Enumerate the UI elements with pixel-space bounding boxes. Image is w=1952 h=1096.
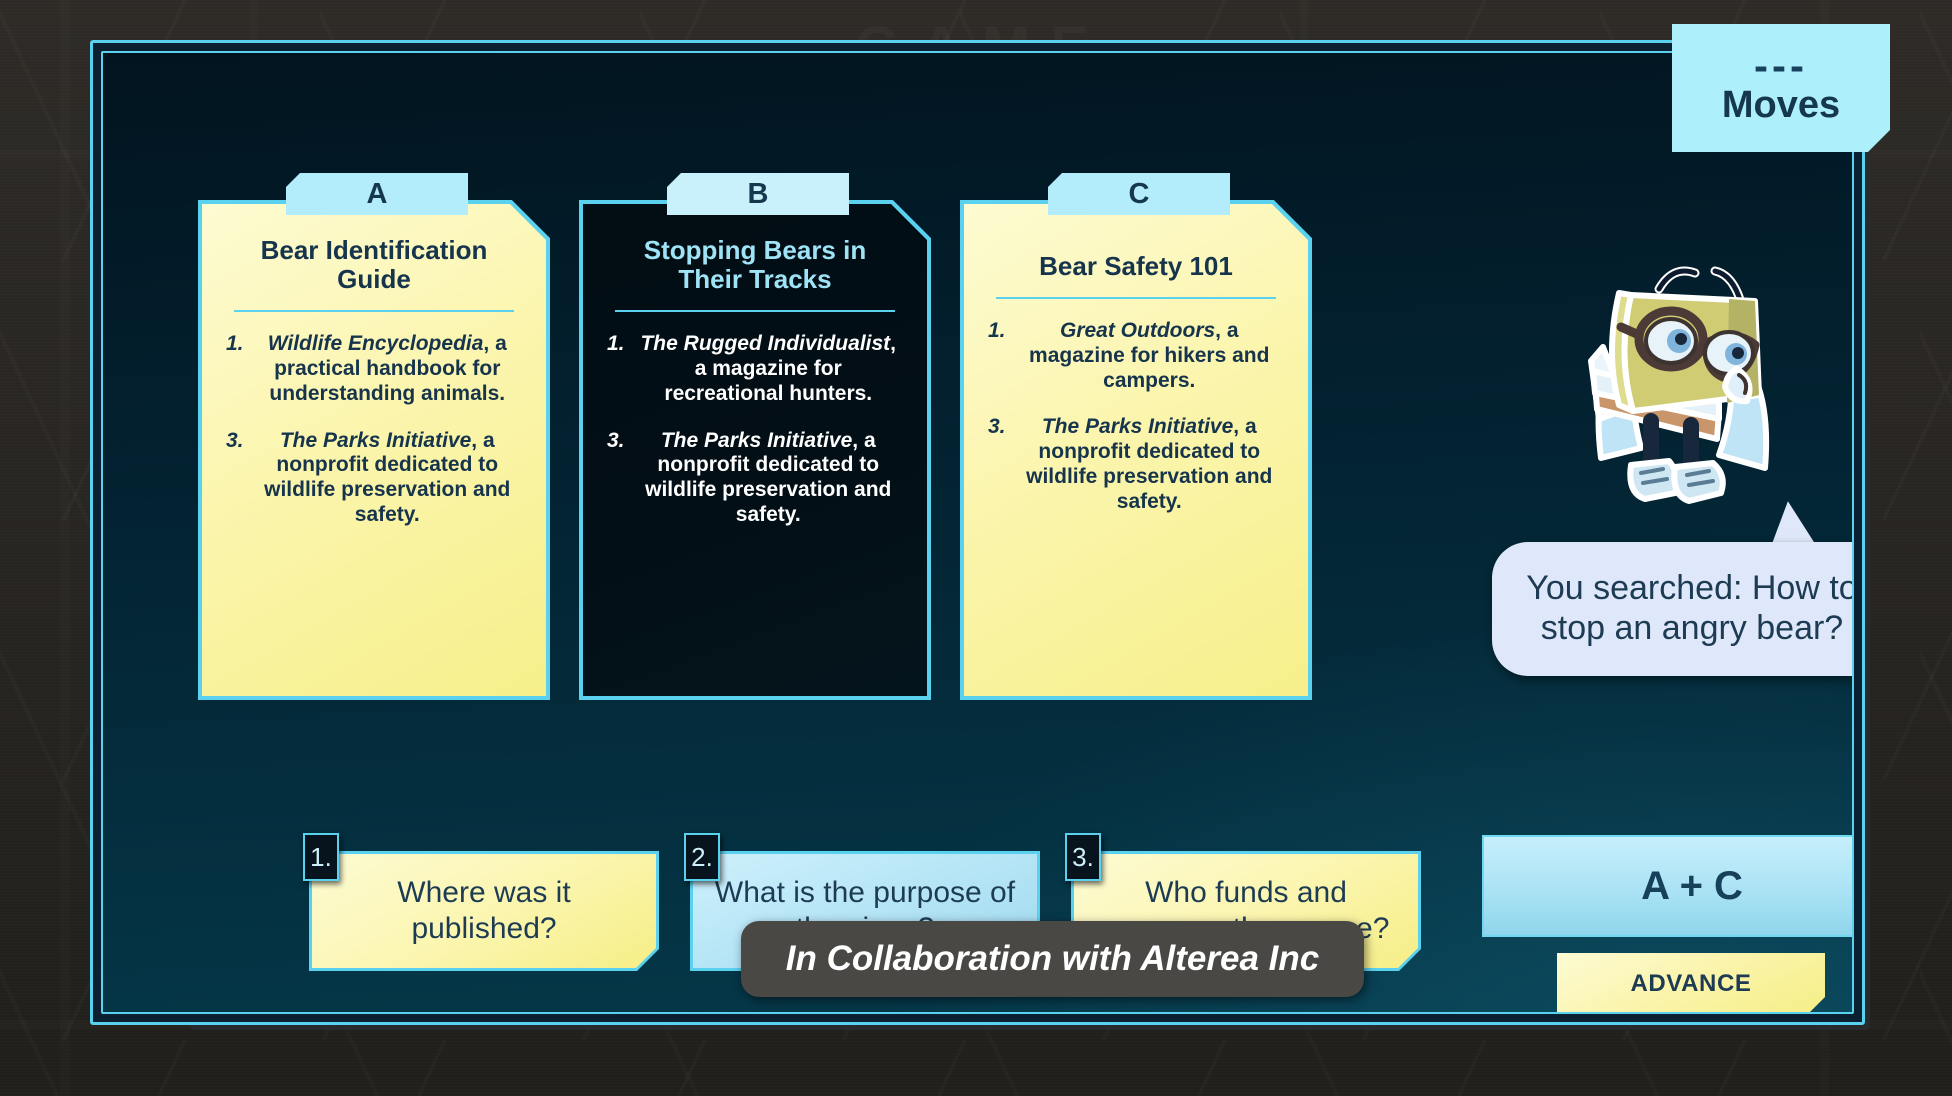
card-body-c[interactable]: Bear Safety 101 1. Great Outdoors, a mag…: [960, 200, 1312, 700]
card-tab-a[interactable]: A: [286, 173, 468, 215]
citation-source: Wildlife Encyclopedia: [268, 332, 484, 355]
moves-value: ---: [1754, 49, 1808, 83]
citation-number: 1.: [988, 319, 1006, 393]
question-label-1: Where was it published?: [325, 875, 643, 947]
citation-text: Great Outdoors, a magazine for hikers an…: [1015, 319, 1284, 393]
citation-source: The Parks Initiative: [661, 429, 852, 452]
citation-text: The Rugged Individualist, a magazine for…: [634, 332, 903, 406]
citation-item: 1. Great Outdoors, a magazine for hikers…: [982, 319, 1290, 393]
citation-text: The Parks Initiative, a nonprofit dedica…: [253, 429, 522, 528]
citation-number: 1.: [607, 332, 625, 406]
card-body-a[interactable]: Bear Identification Guide 1. Wildlife En…: [198, 200, 550, 700]
citation-item: 1. The Rugged Individualist, a magazine …: [601, 332, 909, 406]
citation-source: The Parks Initiative: [280, 429, 471, 452]
citation-number: 3.: [607, 429, 625, 528]
citation-number: 1.: [226, 332, 244, 406]
citation-number: 3.: [988, 415, 1006, 514]
card-body-b[interactable]: Stopping Bears in Their Tracks 1. The Ru…: [579, 200, 931, 700]
citation-text: The Parks Initiative, a nonprofit dedica…: [634, 429, 903, 528]
moves-counter: --- Moves: [1672, 24, 1890, 152]
card-divider-a: [234, 310, 514, 312]
citation-item: 3. The Parks Initiative, a nonprofit ded…: [601, 429, 909, 528]
speech-bubble: You searched: How to stop an angry bear?: [1492, 542, 1854, 676]
citation-item: 3. The Parks Initiative, a nonprofit ded…: [220, 429, 528, 528]
citation-source: Great Outdoors: [1060, 319, 1215, 342]
question-number-3: 3.: [1065, 833, 1101, 881]
citation-number: 3.: [226, 429, 244, 528]
question-body-1[interactable]: Where was it published?: [309, 851, 659, 971]
question-number-1: 1.: [303, 833, 339, 881]
answer-display: A + C: [1482, 835, 1854, 937]
collaboration-banner: In Collaboration with Alterea Inc: [741, 921, 1364, 997]
citation-source: The Parks Initiative: [1042, 415, 1233, 438]
citation-text: Wildlife Encyclopedia, a practical handb…: [253, 332, 522, 406]
screen-outer-border: A Bear Identification Guide 1. Wildlife …: [90, 40, 1865, 1025]
citation-text: The Parks Initiative, a nonprofit dedica…: [1015, 415, 1284, 514]
card-tab-b[interactable]: B: [667, 173, 849, 215]
card-title-b: Stopping Bears in Their Tracks: [601, 230, 909, 294]
card-title-a: Bear Identification Guide: [220, 230, 528, 294]
question-number-2: 2.: [684, 833, 720, 881]
card-divider-c: [996, 297, 1276, 299]
screen-panel: A Bear Identification Guide 1. Wildlife …: [101, 51, 1854, 1014]
citation-item: 3. The Parks Initiative, a nonprofit ded…: [982, 415, 1290, 514]
game-screen: GAME A Bear Identification Guide 1.: [0, 0, 1952, 1096]
book-mascot-icon: [1569, 243, 1809, 513]
card-tab-c[interactable]: C: [1048, 173, 1230, 215]
citation-item: 1. Wildlife Encyclopedia, a practical ha…: [220, 332, 528, 406]
card-divider-b: [615, 310, 895, 312]
citation-source: The Rugged Individualist: [640, 332, 890, 355]
card-title-c: Bear Safety 101: [982, 230, 1290, 281]
advance-button[interactable]: ADVANCE: [1557, 953, 1825, 1014]
question-tab-1[interactable]: 1. Where was it published?: [303, 851, 659, 971]
moves-label: Moves: [1722, 84, 1840, 127]
